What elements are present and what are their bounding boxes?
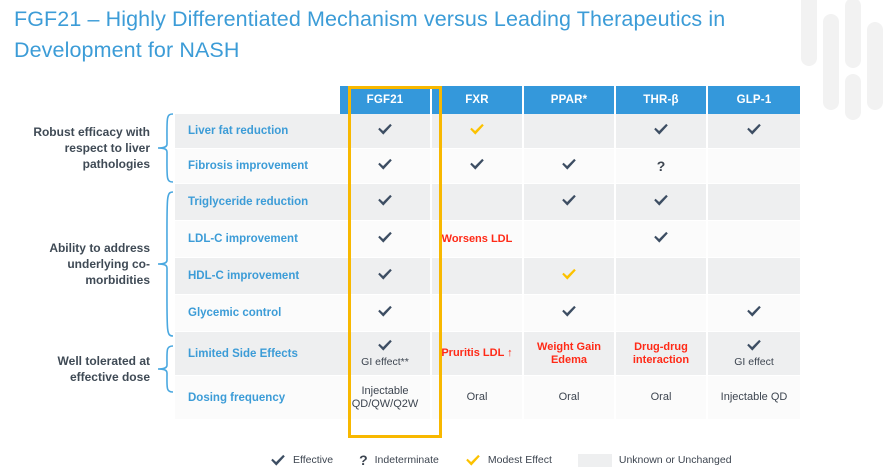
- table-row: Glycemic control: [175, 295, 800, 332]
- effective-check-icon: [561, 194, 577, 210]
- cell-0-1: [432, 114, 524, 148]
- warning-text: Drug-drug interaction: [616, 341, 706, 367]
- cell-2-2: [524, 184, 616, 220]
- cell-0-4: [708, 114, 800, 148]
- effective-check-icon: [377, 158, 393, 174]
- row-label: Dosing frequency: [175, 376, 340, 419]
- cell-7-0: Injectable QD/QW/Q2W: [340, 376, 432, 419]
- modest-effect-check-icon: [469, 123, 485, 139]
- group-label-2: Well tolerated at effective dose: [10, 353, 150, 385]
- effective-check-icon: [377, 231, 393, 247]
- effective-check-icon: [377, 305, 393, 321]
- cell-4-0: [340, 258, 432, 294]
- column-header-ppar[interactable]: PPAR*: [524, 86, 616, 114]
- deco-bar-4: [867, 22, 883, 110]
- cell-6-2: Weight Gain Edema: [524, 332, 616, 375]
- row-label: Limited Side Effects: [175, 332, 340, 375]
- deco-bar-5: [845, 74, 861, 120]
- row-label: Triglyceride reduction: [175, 184, 340, 220]
- group-brace-2: [156, 344, 174, 394]
- indeterminate-icon: ?: [657, 159, 666, 174]
- legend-item-0: Effective: [270, 454, 333, 467]
- row-label: LDL-C improvement: [175, 221, 340, 257]
- cell-3-4: [708, 221, 800, 257]
- cell-7-1: Oral: [432, 376, 524, 419]
- cell-5-2: [524, 295, 616, 331]
- comparison-table: FGF21FXRPPAR*THR-βGLP-1 Liver fat reduct…: [175, 86, 800, 420]
- cell-6-1: Pruritis LDL ↑: [432, 332, 524, 375]
- legend-item-2: Modest Effect: [465, 454, 552, 467]
- effective-check-icon: [746, 305, 762, 321]
- column-header-glp-1[interactable]: GLP-1: [708, 86, 800, 114]
- warning-text: Weight Gain Edema: [524, 341, 614, 367]
- cell-0-2: [524, 114, 616, 148]
- legend-label: Modest Effect: [488, 454, 552, 466]
- cell-3-2: [524, 221, 616, 257]
- group-brace-0: [156, 112, 174, 184]
- cell-text: Oral: [467, 391, 488, 404]
- cell-7-3: Oral: [616, 376, 708, 419]
- effective-check-icon: [746, 339, 762, 355]
- cell-subtext: GI effect: [734, 356, 774, 369]
- effective-check-icon: [653, 231, 669, 247]
- effective-check-icon: [653, 194, 669, 210]
- cell-text: Oral: [651, 391, 672, 404]
- table-row: Liver fat reduction: [175, 114, 800, 149]
- row-label: Liver fat reduction: [175, 114, 340, 148]
- group-brace-1: [156, 190, 174, 338]
- row-label: Fibrosis improvement: [175, 149, 340, 183]
- cell-6-3: Drug-drug interaction: [616, 332, 708, 375]
- legend-label: Effective: [293, 454, 333, 466]
- warning-text: Worsens LDL: [442, 233, 513, 246]
- effective-check-icon: [377, 339, 393, 355]
- table-row: HDL-C improvement: [175, 258, 800, 295]
- effective-check-icon: [561, 305, 577, 321]
- cell-text: Oral: [559, 391, 580, 404]
- effective-check-icon: [653, 123, 669, 139]
- legend-label: Indeterminate: [375, 454, 439, 466]
- legend: Effective?IndeterminateModest EffectUnkn…: [270, 452, 758, 468]
- cell-5-3: [616, 295, 708, 331]
- effective-check-icon: [377, 123, 393, 139]
- cell-1-0: [340, 149, 432, 183]
- cell-6-4: GI effect: [708, 332, 800, 375]
- row-label: Glycemic control: [175, 295, 340, 331]
- cell-4-2: [524, 258, 616, 294]
- effective-check-icon: [469, 158, 485, 174]
- table-row: Dosing frequencyInjectable QD/QW/Q2WOral…: [175, 376, 800, 420]
- table-row: LDL-C improvementWorsens LDL: [175, 221, 800, 258]
- group-label-0: Robust efficacy with respect to liver pa…: [10, 124, 150, 172]
- cell-subtext: GI effect**: [361, 356, 409, 369]
- warning-text: Pruritis LDL ↑: [441, 347, 512, 360]
- effective-check-icon: [377, 268, 393, 284]
- table-row: Fibrosis improvement?: [175, 149, 800, 184]
- legend-label: Unknown or Unchanged: [619, 454, 732, 466]
- effective-check-icon: [561, 158, 577, 174]
- legend-effective-check-icon: [270, 454, 286, 467]
- table-row: Triglyceride reduction: [175, 184, 800, 221]
- cell-5-0: [340, 295, 432, 331]
- table-body: Liver fat reductionFibrosis improvement?…: [175, 114, 800, 420]
- cell-2-4: [708, 184, 800, 220]
- modest-effect-check-icon: [561, 268, 577, 284]
- header-label-spacer: [175, 86, 340, 114]
- cell-1-4: [708, 149, 800, 183]
- column-header-fxr[interactable]: FXR: [432, 86, 524, 114]
- cell-4-4: [708, 258, 800, 294]
- cell-1-2: [524, 149, 616, 183]
- cell-5-4: [708, 295, 800, 331]
- cell-3-3: [616, 221, 708, 257]
- legend-item-3: Unknown or Unchanged: [578, 454, 732, 467]
- column-header-thr[interactable]: THR-β: [616, 86, 708, 114]
- table-header-row: FGF21FXRPPAR*THR-βGLP-1: [175, 86, 800, 114]
- cell-1-3: ?: [616, 149, 708, 183]
- cell-3-1: Worsens LDL: [432, 221, 524, 257]
- cell-1-1: [432, 149, 524, 183]
- table-row: Limited Side EffectsGI effect**Pruritis …: [175, 332, 800, 376]
- legend-unknown-swatch: [578, 454, 612, 467]
- cell-5-1: [432, 295, 524, 331]
- cell-text: Injectable QD/QW/Q2W: [340, 385, 430, 411]
- legend-item-1: ?Indeterminate: [359, 452, 439, 468]
- effective-check-icon: [746, 123, 762, 139]
- cell-2-0: [340, 184, 432, 220]
- group-label-1: Ability to address underlying co-morbidi…: [10, 240, 150, 288]
- cell-0-0: [340, 114, 432, 148]
- cell-4-3: [616, 258, 708, 294]
- legend-modest-check-icon: [465, 454, 481, 467]
- effective-check-icon: [377, 194, 393, 210]
- column-header-fgf21[interactable]: FGF21: [340, 86, 432, 114]
- row-label: HDL-C improvement: [175, 258, 340, 294]
- cell-text: Injectable QD: [721, 391, 788, 404]
- cell-7-2: Oral: [524, 376, 616, 419]
- cell-3-0: [340, 221, 432, 257]
- cell-0-3: [616, 114, 708, 148]
- cell-2-3: [616, 184, 708, 220]
- cell-7-4: Injectable QD: [708, 376, 800, 419]
- slide-title: FGF21 – Highly Differentiated Mechanism …: [14, 4, 854, 66]
- legend-indeterminate-icon: ?: [359, 452, 368, 468]
- cell-4-1: [432, 258, 524, 294]
- cell-2-1: [432, 184, 524, 220]
- cell-6-0: GI effect**: [340, 332, 432, 375]
